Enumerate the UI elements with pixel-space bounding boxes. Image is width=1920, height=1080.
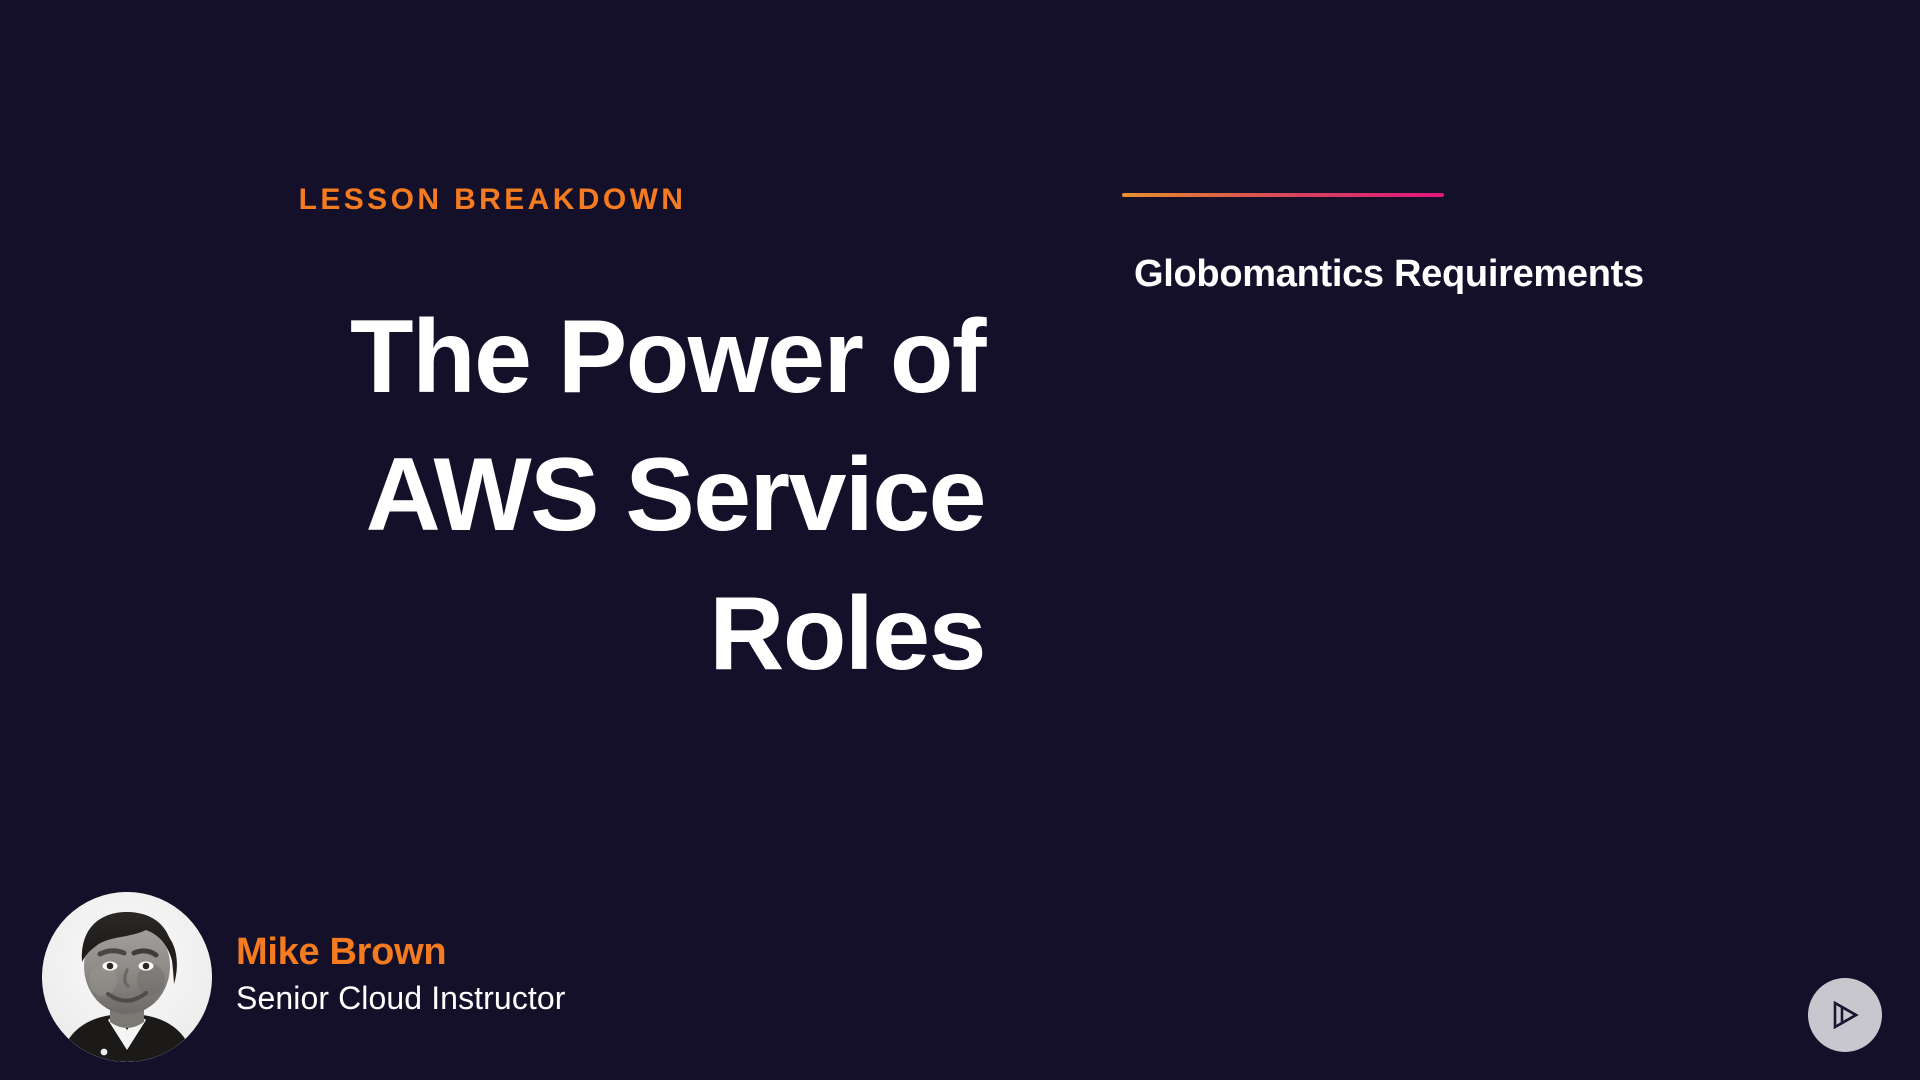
presenter-text: Mike Brown Senior Cloud Instructor [236, 932, 566, 1023]
page-title: The Power of AWS Service Roles [0, 288, 985, 703]
gradient-divider [1122, 193, 1444, 197]
title-line-1: The Power of [0, 288, 985, 426]
title-line-2: AWS Service [0, 426, 985, 564]
title-line-3: Roles [0, 565, 985, 703]
eyebrow-label: LESSON BREAKDOWN [0, 183, 985, 216]
presenter-block: Mike Brown Senior Cloud Instructor [42, 892, 566, 1062]
pluralsight-play-logo-icon [1808, 978, 1882, 1052]
section-heading: Globomantics Requirements [1134, 250, 1914, 299]
presenter-role: Senior Cloud Instructor [236, 981, 566, 1016]
presenter-name: Mike Brown [236, 932, 566, 974]
presentation-slide: LESSON BREAKDOWN The Power of AWS Servic… [0, 0, 1920, 1080]
right-column: Globomantics Requirements [1120, 0, 1920, 1080]
avatar [42, 892, 212, 1062]
